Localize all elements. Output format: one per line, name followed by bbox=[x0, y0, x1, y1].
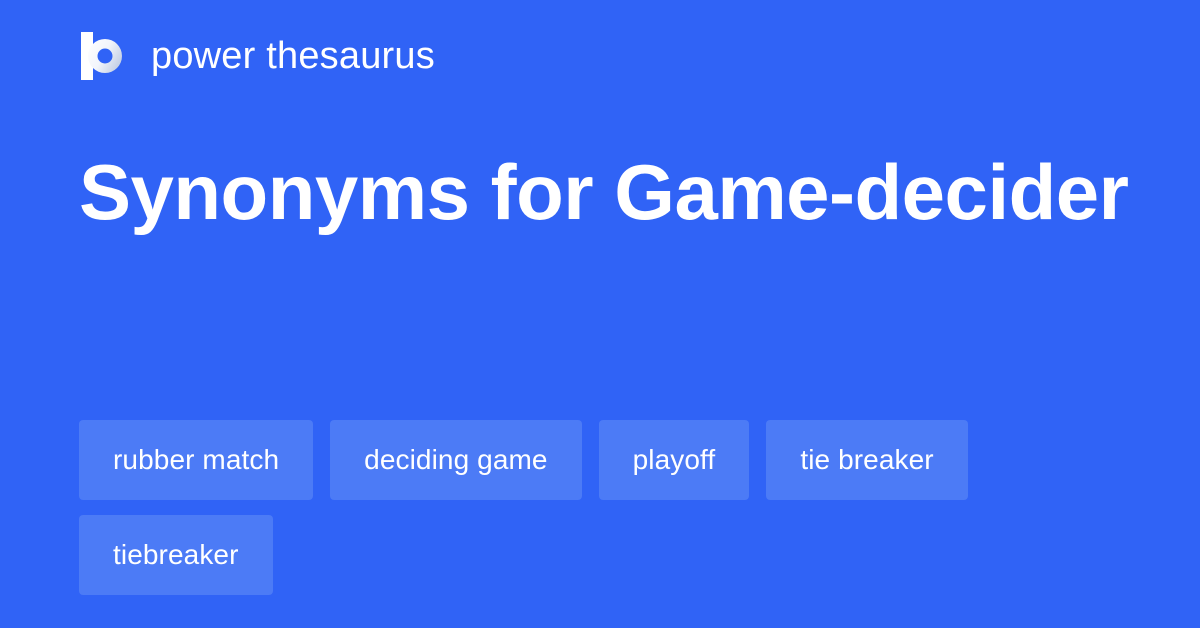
synonym-chip[interactable]: tiebreaker bbox=[79, 515, 273, 595]
synonym-chip[interactable]: tie breaker bbox=[766, 420, 967, 500]
brand-lockup[interactable]: power thesaurus bbox=[79, 28, 435, 84]
brand-name: power thesaurus bbox=[151, 37, 435, 75]
synonym-chip-list: rubber match deciding game playoff tie b… bbox=[79, 420, 1127, 595]
power-thesaurus-b-logo-icon bbox=[79, 30, 131, 82]
synonym-chip[interactable]: playoff bbox=[599, 420, 750, 500]
synonym-chip[interactable]: rubber match bbox=[79, 420, 313, 500]
synonym-chip[interactable]: deciding game bbox=[330, 420, 581, 500]
page-title: Synonyms for Game-decider bbox=[79, 136, 1139, 248]
synonym-share-card: power thesaurus Synonyms for Game-decide… bbox=[0, 0, 1200, 628]
